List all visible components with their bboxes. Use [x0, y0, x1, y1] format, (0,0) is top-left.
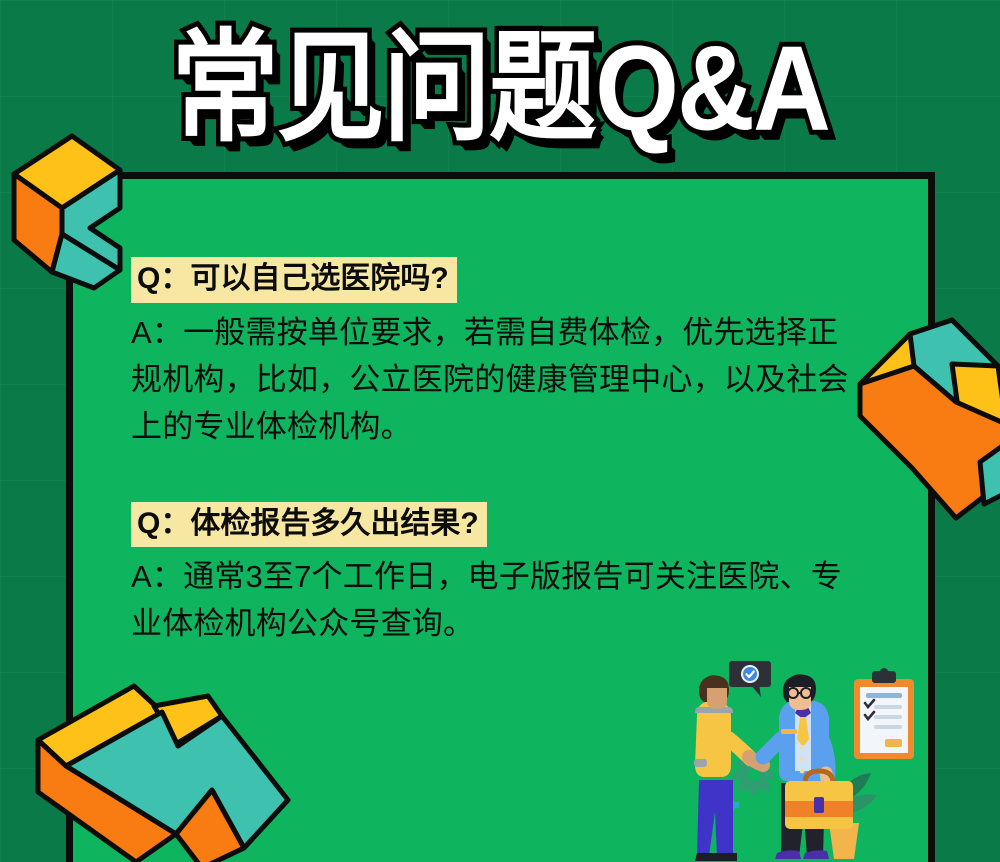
page-title: 常见问题Q&A [171, 28, 829, 149]
poster-root: 常见问题Q&A Q：可以自己选医院吗? A：一般需按单位要求，若需自费体检，优先… [0, 0, 1000, 862]
handshake-illustration [669, 655, 935, 862]
chevron-block-left [4, 112, 134, 292]
qa-list: Q：可以自己选医院吗? A：一般需按单位要求，若需自费体检，优先选择正规机构，比… [131, 257, 871, 648]
speech-bubble-check [729, 661, 771, 697]
clipboard-checklist [854, 668, 914, 759]
page-title-container: 常见问题Q&A [0, 18, 1000, 158]
person-right-blue-suit [763, 674, 829, 859]
qa-item: Q：可以自己选医院吗? A：一般需按单位要求，若需自费体检，优先选择正规机构，比… [131, 257, 871, 450]
question-text: Q：可以自己选医院吗? [131, 257, 457, 303]
qa-item: Q：体检报告多久出结果? A：通常3至7个工作日，电子版报告可关注医院、专业体检… [131, 502, 871, 648]
question-text: Q：体检报告多久出结果? [131, 502, 487, 548]
chevron-block-right [848, 292, 1000, 522]
answer-text: A：通常3至7个工作日，电子版报告可关注医院、专业体检机构公众号查询。 [131, 553, 866, 647]
answer-text: A：一般需按单位要求，若需自费体检，优先选择正规机构，比如，公立医院的健康管理中… [131, 309, 866, 450]
zigzag-block-bottom [26, 672, 326, 862]
